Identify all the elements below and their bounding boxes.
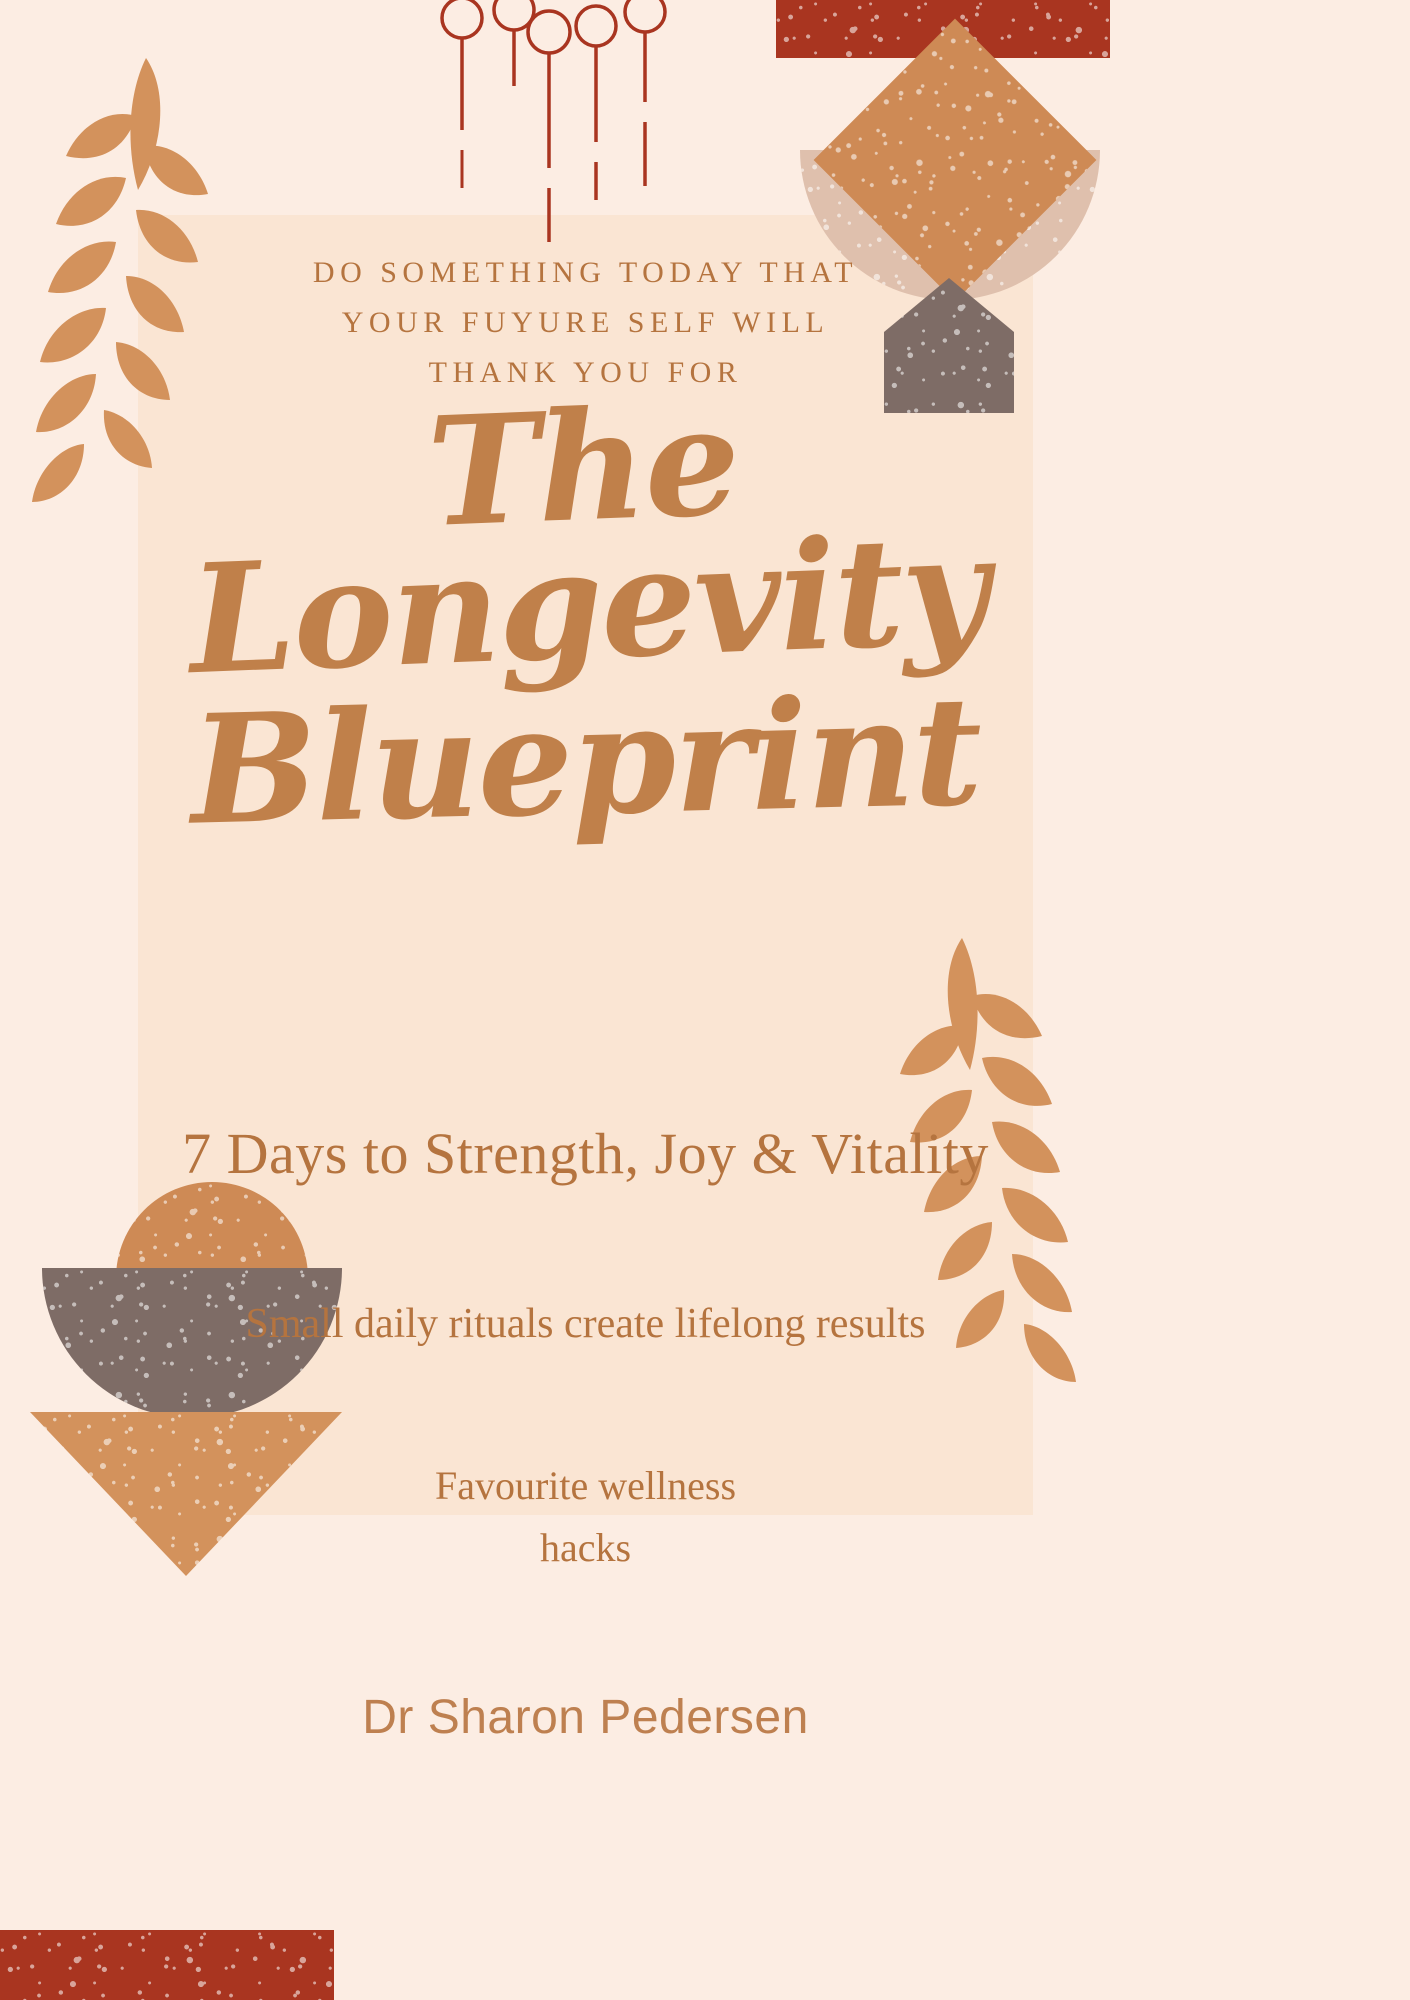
poster-canvas: DO SOMETHING TODAY THAT YOUR FUYURE SELF… [0, 0, 1410, 2000]
tagline-line-3: THANK YOU FOR [138, 348, 1033, 398]
grain-texture [0, 1930, 334, 2000]
red-bar-bottom-left [0, 1930, 334, 2000]
tagline: DO SOMETHING TODAY THAT YOUR FUYURE SELF… [138, 248, 1033, 398]
author-name: Dr Sharon Pedersen [138, 1690, 1033, 1745]
tagline-line-2: YOUR FUYURE SELF WILL [138, 298, 1033, 348]
hanging-circles-ornament [430, 0, 690, 260]
subtitle: 7 Days to Strength, Joy & Vitality [138, 1120, 1033, 1187]
tagline-line-1: DO SOMETHING TODAY THAT [138, 248, 1033, 298]
hacks-line-1: Favourite wellness [138, 1455, 1033, 1517]
body-text: Small daily rituals create lifelong resu… [138, 1300, 1033, 1348]
hacks-line-2: hacks [138, 1517, 1033, 1579]
wellness-hacks-text: Favourite wellness hacks [138, 1455, 1033, 1579]
